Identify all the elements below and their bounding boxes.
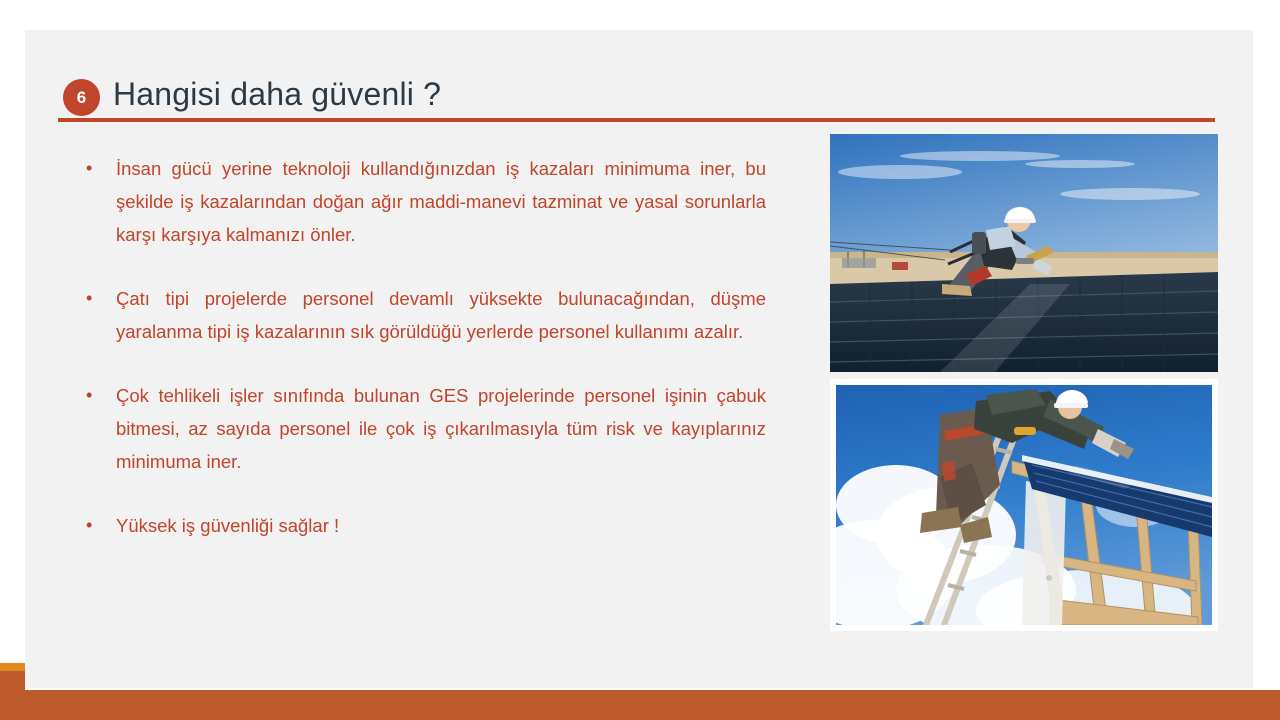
worker-on-ladder-installing-solar-panel-image bbox=[830, 379, 1218, 631]
list-item: • Yüksek iş güvenliği sağlar ! bbox=[86, 509, 766, 542]
bullet-marker-icon: • bbox=[86, 509, 116, 542]
bullet-list: • İnsan gücü yerine teknoloji kullandığı… bbox=[86, 152, 766, 542]
roof-installation-illustration bbox=[830, 134, 1218, 372]
left-accent-stripe bbox=[0, 663, 25, 671]
bullet-text: Çok tehlikeli işler sınıfında bulunan GE… bbox=[116, 379, 766, 478]
ladder-installation-illustration bbox=[836, 385, 1212, 625]
title-underline-divider bbox=[58, 118, 1215, 122]
list-item: • Çatı tipi projelerde personel devamlı … bbox=[86, 282, 766, 348]
bullet-text: İnsan gücü yerine teknoloji kullandığını… bbox=[116, 152, 766, 251]
bullet-marker-icon: • bbox=[86, 152, 116, 185]
page-title: Hangisi daha güvenli ? bbox=[113, 76, 441, 113]
bottom-decorative-bar bbox=[0, 690, 1280, 720]
bullet-text: Çatı tipi projelerde personel devamlı yü… bbox=[116, 282, 766, 348]
bullet-text: Yüksek iş güvenliği sağlar ! bbox=[116, 509, 766, 542]
slide-number-badge: 6 bbox=[63, 79, 100, 116]
bullet-marker-icon: • bbox=[86, 282, 116, 315]
bullet-marker-icon: • bbox=[86, 379, 116, 412]
left-decorative-block bbox=[0, 671, 25, 720]
list-item: • İnsan gücü yerine teknoloji kullandığı… bbox=[86, 152, 766, 251]
list-item: • Çok tehlikeli işler sınıfında bulunan … bbox=[86, 379, 766, 478]
presentation-slide: 6 Hangisi daha güvenli ? • İnsan gücü ye… bbox=[0, 0, 1280, 720]
worker-installing-solar-roof-tiles-image bbox=[830, 134, 1218, 372]
